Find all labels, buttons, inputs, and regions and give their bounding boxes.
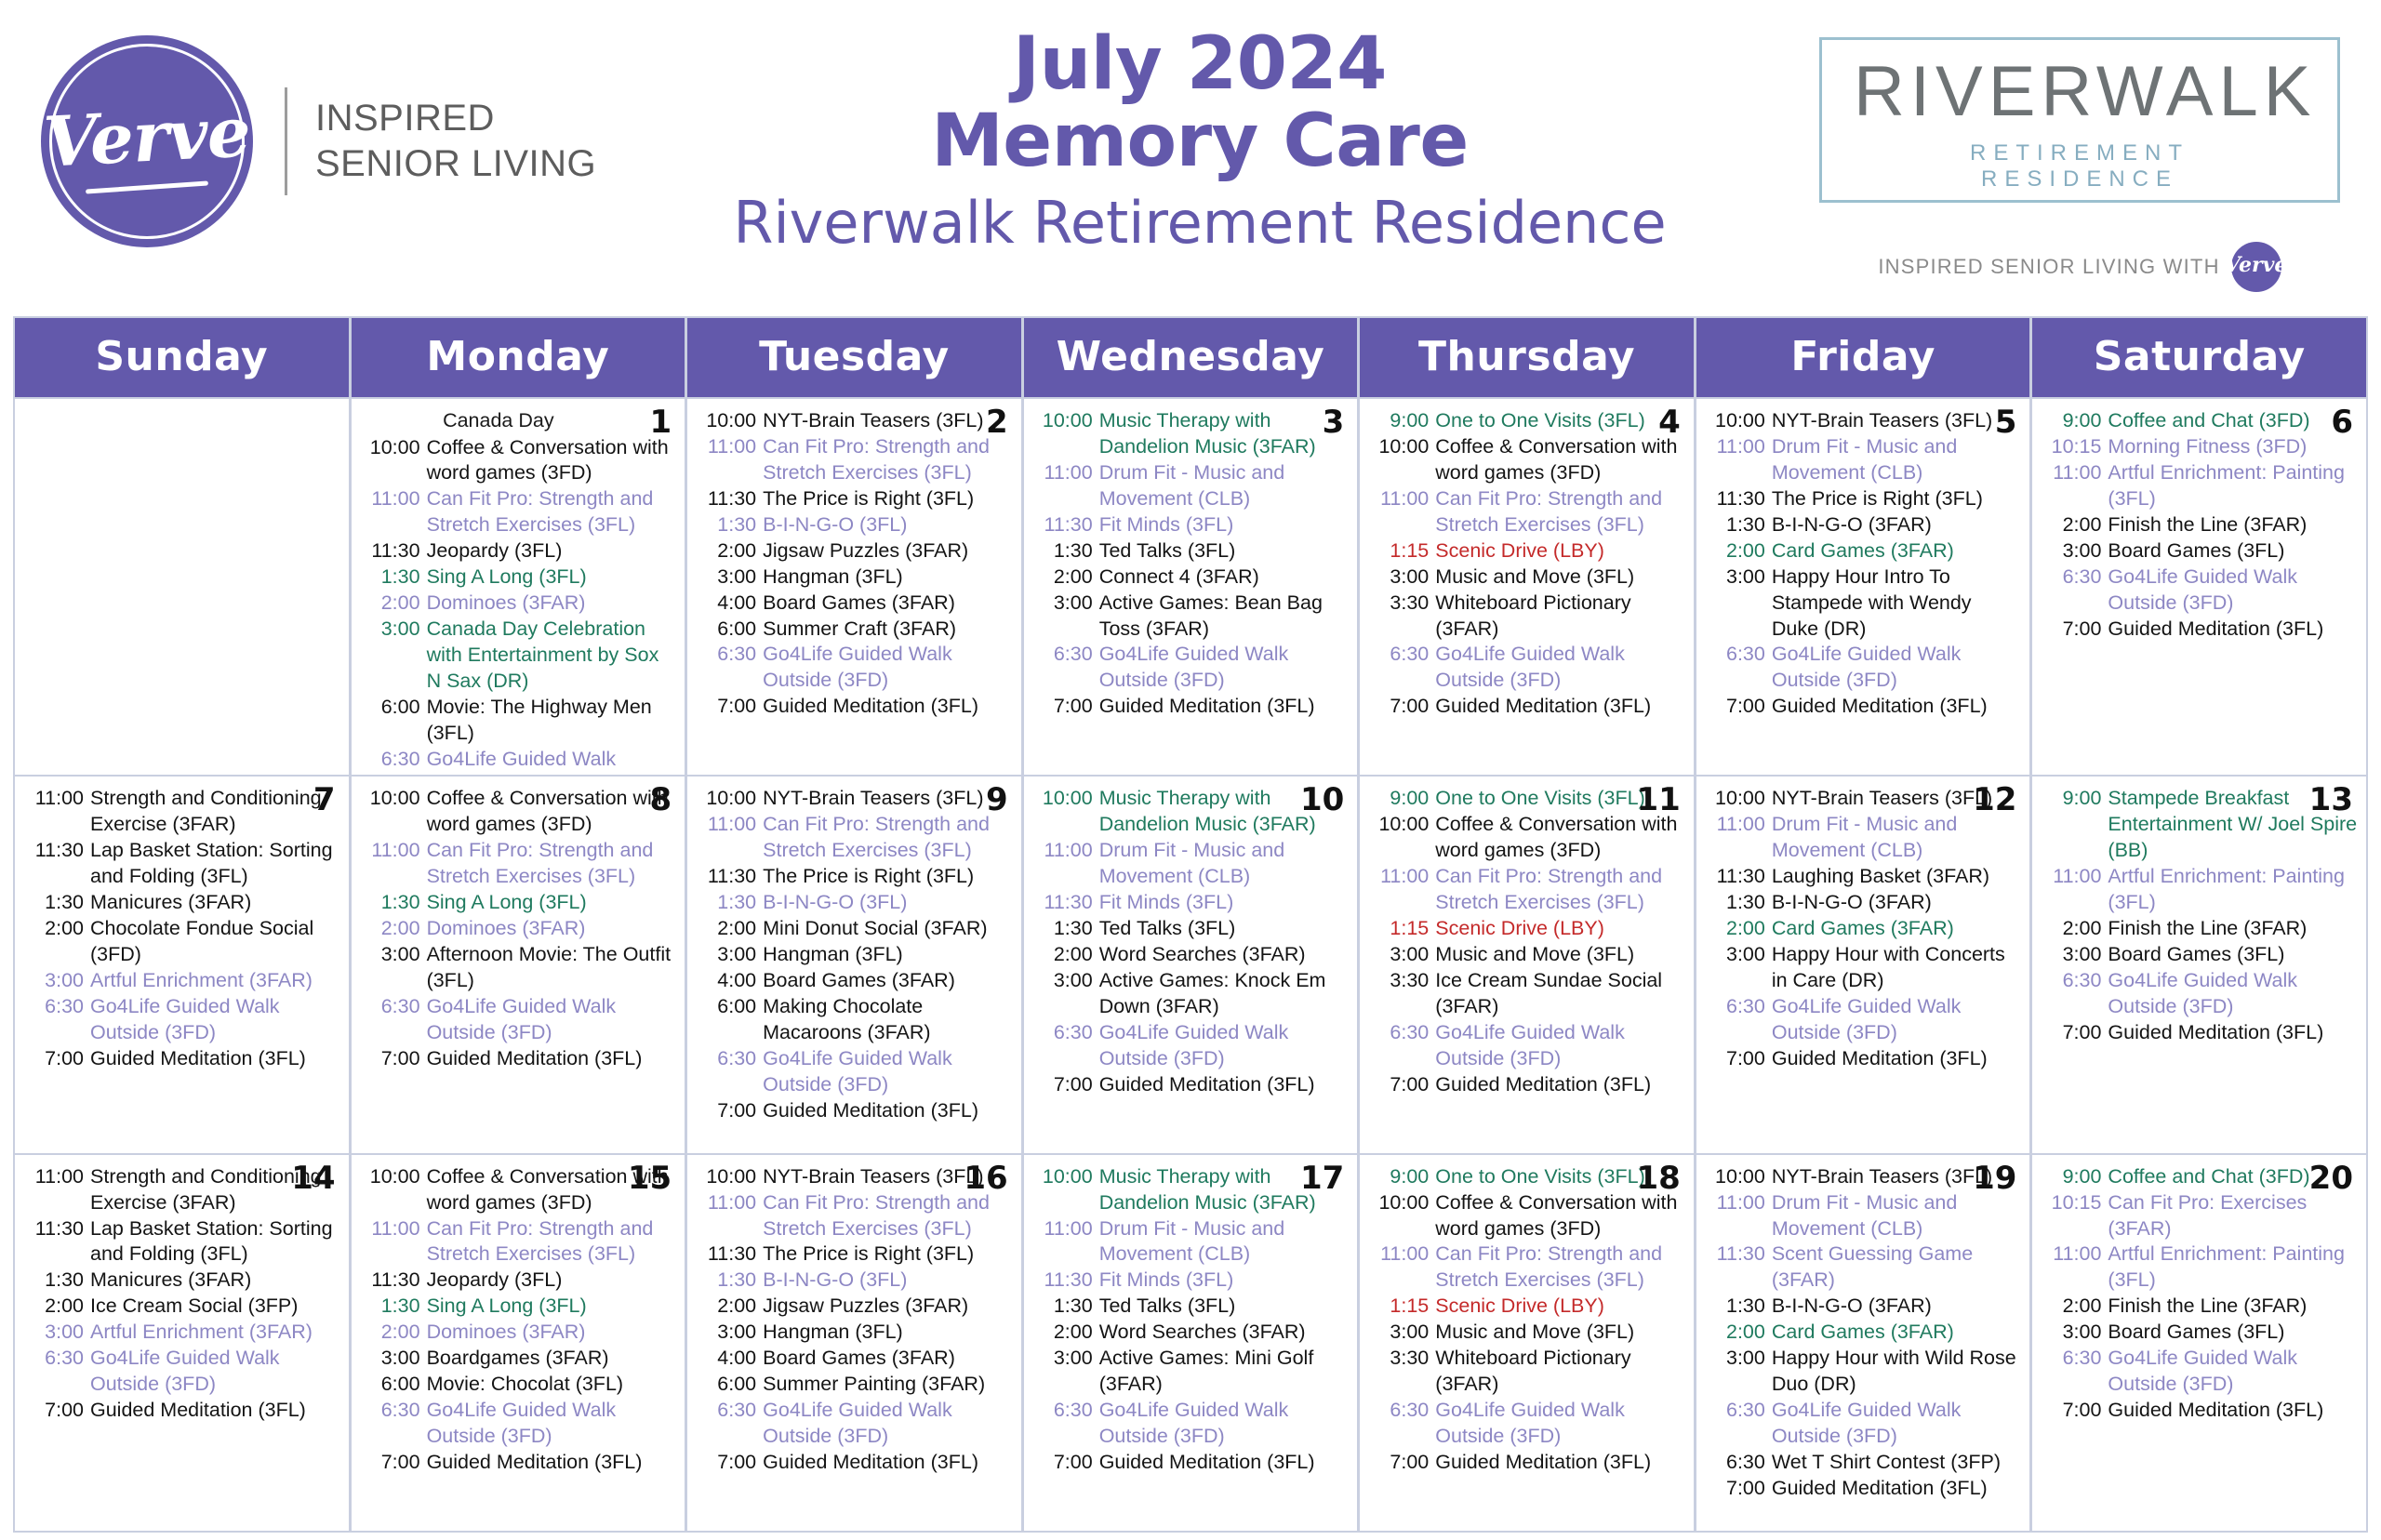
event-time: 6:30: [1704, 642, 1765, 694]
event-item[interactable]: 11:30The Price is Right (3FL): [1704, 486, 2023, 512]
event-item[interactable]: 11:00Can Fit Pro: Strength and Stretch E…: [359, 1216, 678, 1268]
event-item[interactable]: 3:00Happy Hour Intro To Stampede with We…: [1704, 564, 2023, 643]
event-time: 11:00: [695, 1190, 756, 1242]
event-item[interactable]: 4:00Board Games (3FAR): [695, 591, 1014, 617]
event-description: The Price is Right (3FL): [763, 1241, 1014, 1268]
event-item[interactable]: 11:00Strength and Conditioning Exercise …: [22, 786, 341, 838]
event-time: 1:30: [22, 890, 84, 916]
event-item[interactable]: 11:00Can Fit Pro: Strength and Stretch E…: [1367, 1241, 1686, 1294]
event-time: 11:30: [1704, 1241, 1765, 1294]
event-item[interactable]: 2:00Jigsaw Puzzles (3FAR): [695, 538, 1014, 564]
day-cell-17[interactable]: 1710:00Music Therapy with Dandelion Musi…: [1024, 1155, 1358, 1531]
event-item[interactable]: 7:00Guided Meditation (3FL): [1031, 1072, 1350, 1098]
event-time: 6:30: [359, 994, 420, 1046]
brand-divider: [285, 87, 287, 195]
event-item[interactable]: 10:00Music Therapy with Dandelion Music …: [1031, 408, 1350, 460]
event-item[interactable]: 10:00Coffee & Conversation with word gam…: [359, 435, 678, 487]
day-cell-9[interactable]: 910:00NYT-Brain Teasers (3FL)11:00Can Fi…: [687, 777, 1021, 1152]
day-cell-10[interactable]: 1010:00Music Therapy with Dandelion Musi…: [1024, 777, 1358, 1152]
event-item[interactable]: 3:00Board Games (3FL): [2040, 538, 2359, 564]
event-description: Dominoes (3FAR): [427, 916, 678, 942]
event-item[interactable]: 10:00Coffee & Conversation with word gam…: [1367, 812, 1686, 864]
event-item[interactable]: 10:15Can Fit Pro: Exercises (3FAR): [2040, 1190, 2359, 1242]
riverwalk-footer-text: INSPIRED SENIOR LIVING WITH: [1878, 255, 2219, 279]
event-time: 10:00: [1031, 408, 1093, 460]
event-item[interactable]: 6:30Go4Life Guided Walk Outside (3FD): [359, 1398, 678, 1450]
event-item[interactable]: 3:00Active Games: Knock Em Down (3FAR): [1031, 968, 1350, 1020]
event-item[interactable]: 11:00Can Fit Pro: Strength and Stretch E…: [359, 838, 678, 890]
event-item[interactable]: 2:00Card Games (3FAR): [1704, 538, 2023, 564]
event-item[interactable]: 7:00Guided Meditation (3FL): [22, 1398, 341, 1424]
event-item[interactable]: 6:30Go4Life Guided Walk Outside (3FD): [22, 994, 341, 1046]
event-item[interactable]: 6:30Go4Life Guided Walk Outside (3FD): [22, 1346, 341, 1398]
event-time: 11:00: [1367, 1241, 1429, 1294]
event-description: Strength and Conditioning Exercise (3FAR…: [90, 786, 341, 838]
event-item[interactable]: 2:00Dominoes (3FAR): [359, 1320, 678, 1346]
event-description: Drum Fit - Music and Movement (CLB): [1099, 838, 1350, 890]
event-item[interactable]: 11:00Can Fit Pro: Strength and Stretch E…: [695, 812, 1014, 864]
day-cell-3[interactable]: 310:00Music Therapy with Dandelion Music…: [1024, 399, 1358, 775]
event-item[interactable]: 1:15Scenic Drive (LBY): [1367, 1294, 1686, 1320]
event-item[interactable]: 3:00Board Games (3FL): [2040, 942, 2359, 968]
event-list: 9:00Coffee and Chat (3FD)10:15Can Fit Pr…: [2040, 1164, 2359, 1424]
event-time: 6:30: [1704, 1398, 1765, 1450]
event-description: Board Games (3FAR): [763, 968, 1014, 994]
event-item[interactable]: 11:00Drum Fit - Music and Movement (CLB): [1704, 812, 2023, 864]
event-time: 10:00: [1031, 786, 1093, 838]
event-time: 4:00: [695, 1346, 756, 1372]
event-time: 3:00: [1367, 942, 1429, 968]
event-time: 1:30: [695, 1268, 756, 1294]
event-description: Can Fit Pro: Strength and Stretch Exerci…: [763, 1190, 1014, 1242]
event-item[interactable]: 7:00Guided Meditation (3FL): [695, 1450, 1014, 1476]
event-item[interactable]: 11:00Can Fit Pro: Strength and Stretch E…: [1367, 864, 1686, 916]
event-item[interactable]: 7:00Guided Meditation (3FL): [1367, 1450, 1686, 1476]
event-item[interactable]: 1:15Scenic Drive (LBY): [1367, 916, 1686, 942]
event-item[interactable]: 6:30Go4Life Guided Walk Outside (3FD): [2040, 564, 2359, 617]
day-cell-19[interactable]: 1910:00NYT-Brain Teasers (3FL)11:00Drum …: [1696, 1155, 2030, 1531]
event-item[interactable]: 2:00Finish the Line (3FAR): [2040, 916, 2359, 942]
event-time: 3:00: [22, 968, 84, 994]
event-time: 7:00: [1367, 1072, 1429, 1098]
event-item[interactable]: 2:00Word Searches (3FAR): [1031, 1320, 1350, 1346]
event-time: 1:15: [1367, 1294, 1429, 1320]
weekday-header-saturday: Saturday: [2032, 318, 2366, 397]
event-item[interactable]: 11:00Can Fit Pro: Strength and Stretch E…: [1367, 486, 1686, 538]
event-item[interactable]: 6:30Go4Life Guided Walk Outside (3FD): [1367, 1020, 1686, 1072]
day-cell-16[interactable]: 1610:00NYT-Brain Teasers (3FL)11:00Can F…: [687, 1155, 1021, 1531]
event-item[interactable]: 11:30The Price is Right (3FL): [695, 1241, 1014, 1268]
event-item[interactable]: 11:30Lap Basket Station: Sorting and Fol…: [22, 838, 341, 890]
event-item[interactable]: 2:00Connect 4 (3FAR): [1031, 564, 1350, 591]
event-time: 3:00: [1704, 942, 1765, 994]
day-cell-11[interactable]: 119:00One to One Visits (3FL)10:00Coffee…: [1360, 777, 1694, 1152]
event-description: Jigsaw Puzzles (3FAR): [763, 1294, 1014, 1320]
day-cell-13[interactable]: 139:00Stampede Breakfast Entertainment W…: [2032, 777, 2366, 1152]
day-cell-7[interactable]: 711:00Strength and Conditioning Exercise…: [15, 777, 349, 1152]
event-item[interactable]: 6:30Go4Life Guided Walk Outside (3FD): [1704, 994, 2023, 1046]
event-item[interactable]: 2:00Finish the Line (3FAR): [2040, 512, 2359, 538]
event-time: 10:00: [1367, 1190, 1429, 1242]
event-description: Movie: Chocolat (3FL): [427, 1372, 678, 1398]
event-time: 2:00: [359, 591, 420, 617]
event-item[interactable]: 11:30Jeopardy (3FL): [359, 1268, 678, 1294]
event-time: 9:00: [1367, 408, 1429, 434]
event-time: 10:00: [1704, 1164, 1765, 1190]
event-item[interactable]: 6:30Go4Life Guided Walk Outside (3FD): [359, 994, 678, 1046]
event-list: 9:00One to One Visits (3FL)10:00Coffee &…: [1367, 1164, 1686, 1476]
event-time: 11:00: [1704, 1190, 1765, 1242]
event-time: 11:30: [1031, 1268, 1093, 1294]
event-item[interactable]: 7:00Guided Meditation (3FL): [22, 1046, 341, 1072]
event-list: 10:00Coffee & Conversation with word gam…: [359, 1164, 678, 1476]
event-list: 9:00Coffee and Chat (3FD)10:15Morning Fi…: [2040, 408, 2359, 642]
event-description: Coffee & Conversation with word games (3…: [427, 435, 678, 487]
event-item[interactable]: 2:00Word Searches (3FAR): [1031, 942, 1350, 968]
event-item[interactable]: 3:00Afternoon Movie: The Outfit (3FL): [359, 942, 678, 994]
event-description: Go4Life Guided Walk Outside (3FD): [2108, 1346, 2359, 1398]
event-time: 7:00: [1704, 1476, 1765, 1502]
event-item[interactable]: 2:00Dominoes (3FAR): [359, 591, 678, 617]
event-item[interactable]: 11:00Can Fit Pro: Strength and Stretch E…: [695, 1190, 1014, 1242]
event-item[interactable]: 11:30Lap Basket Station: Sorting and Fol…: [22, 1216, 341, 1268]
day-cell-6[interactable]: 69:00Coffee and Chat (3FD)10:15Morning F…: [2032, 399, 2366, 775]
event-item[interactable]: 6:30Go4Life Guided Walk Outside (3FD): [2040, 1346, 2359, 1398]
event-item[interactable]: 11:00Artful Enrichment: Painting (3FL): [2040, 460, 2359, 512]
verve-mini-wordmark: Verve: [2225, 253, 2287, 277]
event-item[interactable]: 7:00Guided Meditation (3FL): [359, 1046, 678, 1072]
event-item[interactable]: 7:00Guided Meditation (3FL): [695, 694, 1014, 720]
event-item[interactable]: 6:00Movie: The Highway Men (3FL): [359, 695, 678, 747]
event-description: Artful Enrichment: Painting (3FL): [2108, 1241, 2359, 1294]
event-item[interactable]: 3:00Artful Enrichment (3FAR): [22, 968, 341, 994]
event-item[interactable]: 3:00Boardgames (3FAR): [359, 1346, 678, 1372]
event-item[interactable]: 3:00Hangman (3FL): [695, 1320, 1014, 1346]
event-item[interactable]: 11:00Can Fit Pro: Strength and Stretch E…: [695, 434, 1014, 486]
event-item[interactable]: 11:00Drum Fit - Music and Movement (CLB): [1031, 460, 1350, 512]
event-item[interactable]: 1:30Ted Talks (3FL): [1031, 538, 1350, 564]
event-item[interactable]: 11:00Drum Fit - Music and Movement (CLB): [1704, 1190, 2023, 1242]
event-item[interactable]: 7:00Guided Meditation (3FL): [695, 1098, 1014, 1124]
event-time: 6:30: [1367, 642, 1429, 694]
event-item[interactable]: 10:00NYT-Brain Teasers (3FL): [695, 786, 1014, 812]
event-item[interactable]: 3:00Happy Hour with Wild Rose Duo (DR): [1704, 1346, 2023, 1398]
day-cell-12[interactable]: 1210:00NYT-Brain Teasers (3FL)11:00Drum …: [1696, 777, 2030, 1152]
event-description: Guided Meditation (3FL): [2108, 1020, 2359, 1046]
event-item[interactable]: 2:00Dominoes (3FAR): [359, 916, 678, 942]
event-description: Ice Cream Sundae Social (3FAR): [1435, 968, 1686, 1020]
day-number: 9: [986, 784, 1008, 816]
day-cell-1[interactable]: 1Canada Day10:00Coffee & Conversation wi…: [352, 399, 685, 775]
event-description: Finish the Line (3FAR): [2108, 916, 2359, 942]
event-item[interactable]: 1:30B-I-N-G-O (3FL): [695, 890, 1014, 916]
event-time: 3:00: [359, 942, 420, 994]
event-item[interactable]: 1:30B-I-N-G-O (3FL): [695, 512, 1014, 538]
event-item[interactable]: 7:00Guided Meditation (3FL): [359, 1450, 678, 1476]
event-description: Lap Basket Station: Sorting and Folding …: [90, 1216, 341, 1268]
event-time: 3:00: [1367, 564, 1429, 591]
event-description: Finish the Line (3FAR): [2108, 1294, 2359, 1320]
event-item[interactable]: 6:30Go4Life Guided Walk Outside (3FD): [1367, 642, 1686, 694]
event-description: Artful Enrichment (3FAR): [90, 1320, 341, 1346]
event-description: Drum Fit - Music and Movement (CLB): [1099, 460, 1350, 512]
event-item[interactable]: 6:30Go4Life Guided Walk Outside (3FD): [1704, 642, 2023, 694]
event-item[interactable]: 2:00Chocolate Fondue Social (3FD): [22, 916, 341, 968]
day-cell-8[interactable]: 810:00Coffee & Conversation with word ga…: [352, 777, 685, 1152]
event-item[interactable]: 3:00Hangman (3FL): [695, 564, 1014, 591]
event-time: 1:30: [1031, 916, 1093, 942]
event-item[interactable]: 10:00NYT-Brain Teasers (3FL): [695, 408, 1014, 434]
event-item[interactable]: 7:00Guided Meditation (3FL): [1704, 694, 2023, 720]
event-item[interactable]: 2:00Card Games (3FAR): [1704, 1320, 2023, 1346]
event-item[interactable]: 6:00Summer Painting (3FAR): [695, 1372, 1014, 1398]
event-description: Go4Life Guided Walk Outside (3FD): [1435, 1398, 1686, 1450]
event-item[interactable]: 4:00Board Games (3FAR): [695, 1346, 1014, 1372]
event-item[interactable]: 7:00Guided Meditation (3FL): [2040, 617, 2359, 643]
event-item[interactable]: 3:00Active Games: Bean Bag Toss (3FAR): [1031, 591, 1350, 643]
event-description: Ice Cream Social (3FP): [90, 1294, 341, 1320]
event-time: 2:00: [359, 1320, 420, 1346]
event-item[interactable]: 1:30Sing A Long (3FL): [359, 1294, 678, 1320]
event-item[interactable]: 11:30Fit Minds (3FL): [1031, 1268, 1350, 1294]
event-item[interactable]: 3:00Active Games: Mini Golf (3FAR): [1031, 1346, 1350, 1398]
event-item[interactable]: 6:30Go4Life Guided Walk Outside (3FD): [1031, 1398, 1350, 1450]
day-cell-empty[interactable]: [15, 399, 349, 775]
event-description: Lap Basket Station: Sorting and Folding …: [90, 838, 341, 890]
event-item[interactable]: 10:00Coffee & Conversation with word gam…: [1367, 1190, 1686, 1242]
event-item[interactable]: 11:30Scent Guessing Game (3FAR): [1704, 1241, 2023, 1294]
day-cell-4[interactable]: 49:00One to One Visits (3FL)10:00Coffee …: [1360, 399, 1694, 775]
event-time: 10:00: [695, 786, 756, 812]
event-description: Boardgames (3FAR): [427, 1346, 678, 1372]
day-number: 16: [964, 1162, 1007, 1194]
event-description: Go4Life Guided Walk Outside (3FD): [1099, 1398, 1350, 1450]
event-item[interactable]: 7:00Guided Meditation (3FL): [1367, 694, 1686, 720]
event-item[interactable]: 6:30Wet T Shirt Contest (3FP): [1704, 1450, 2023, 1476]
event-time: 3:00: [2040, 942, 2101, 968]
day-number: 8: [649, 784, 672, 816]
event-item[interactable]: 1:30Ted Talks (3FL): [1031, 1294, 1350, 1320]
event-item[interactable]: 1:15Scenic Drive (LBY): [1367, 538, 1686, 564]
event-list: 10:00NYT-Brain Teasers (3FL)11:00Can Fit…: [695, 1164, 1014, 1476]
event-description: Guided Meditation (3FL): [1435, 1450, 1686, 1476]
page-header: Verve INSPIRED SENIOR LIVING July 2024 M…: [13, 9, 2368, 316]
event-item[interactable]: 9:00Coffee and Chat (3FD): [2040, 408, 2359, 434]
week-row-2: 711:00Strength and Conditioning Exercise…: [15, 777, 2366, 1152]
event-time: 3:00: [695, 564, 756, 591]
day-cell-20[interactable]: 209:00Coffee and Chat (3FD)10:15Can Fit …: [2032, 1155, 2366, 1531]
event-description: Can Fit Pro: Strength and Stretch Exerci…: [763, 812, 1014, 864]
event-item[interactable]: 10:00NYT-Brain Teasers (3FL): [1704, 408, 2023, 434]
event-item[interactable]: 1:30B-I-N-G-O (3FL): [695, 1268, 1014, 1294]
event-item[interactable]: 1:30Sing A Long (3FL): [359, 564, 678, 591]
event-time: 1:30: [1704, 890, 1765, 916]
event-item[interactable]: 7:00Guided Meditation (3FL): [1367, 1072, 1686, 1098]
event-item[interactable]: 6:30Go4Life Guided Walk Outside (3FD): [2040, 968, 2359, 1020]
event-time: 11:00: [2040, 460, 2101, 512]
event-item[interactable]: 6:00Movie: Chocolat (3FL): [359, 1372, 678, 1398]
event-description: Go4Life Guided Walk Outside (3FD): [427, 747, 678, 776]
event-item[interactable]: 6:00Summer Craft (3FAR): [695, 617, 1014, 643]
event-time: 3:00: [695, 942, 756, 968]
event-time: 11:30: [22, 838, 84, 890]
event-item[interactable]: 3:30Whiteboard Pictionary (3FAR): [1367, 591, 1686, 643]
event-item[interactable]: 2:00Mini Donut Social (3FAR): [695, 916, 1014, 942]
event-item[interactable]: 3:00Artful Enrichment (3FAR): [22, 1320, 341, 1346]
event-description: Word Searches (3FAR): [1099, 942, 1350, 968]
day-number: 10: [1300, 784, 1344, 816]
event-item[interactable]: 7:00Guided Meditation (3FL): [1704, 1476, 2023, 1502]
day-cell-5[interactable]: 510:00NYT-Brain Teasers (3FL)11:00Drum F…: [1696, 399, 2030, 775]
event-description: Guided Meditation (3FL): [2108, 1398, 2359, 1424]
event-description: Guided Meditation (3FL): [427, 1046, 678, 1072]
event-item[interactable]: 6:30Go4Life Guided Walk Outside (3FD): [359, 747, 678, 776]
day-number: 5: [1995, 406, 2017, 438]
event-time: 3:00: [2040, 1320, 2101, 1346]
event-item[interactable]: 1:30B-I-N-G-O (3FAR): [1704, 890, 2023, 916]
event-item[interactable]: 1:30B-I-N-G-O (3FAR): [1704, 1294, 2023, 1320]
event-description: Guided Meditation (3FL): [1435, 694, 1686, 720]
event-description: Wet T Shirt Contest (3FP): [1772, 1450, 2023, 1476]
event-item[interactable]: 10:00Coffee & Conversation with word gam…: [359, 786, 678, 838]
event-item[interactable]: 3:00Music and Move (3FL): [1367, 942, 1686, 968]
page-subtitle-residence: Riverwalk Retirement Residence: [608, 189, 1791, 258]
weekday-header-wednesday: Wednesday: [1024, 318, 1358, 397]
event-item[interactable]: 11:00Drum Fit - Music and Movement (CLB): [1031, 1216, 1350, 1268]
event-item[interactable]: 11:30The Price is Right (3FL): [695, 864, 1014, 890]
event-item[interactable]: 2:00Jigsaw Puzzles (3FAR): [695, 1294, 1014, 1320]
event-item[interactable]: 11:00Can Fit Pro: Strength and Stretch E…: [359, 486, 678, 538]
event-time: 3:00: [359, 1346, 420, 1372]
event-item[interactable]: 6:30Go4Life Guided Walk Outside (3FD): [1031, 642, 1350, 694]
event-time: 11:00: [1367, 864, 1429, 916]
event-description: Go4Life Guided Walk Outside (3FD): [1435, 1020, 1686, 1072]
event-item[interactable]: 7:00Guided Meditation (3FL): [1704, 1046, 2023, 1072]
event-description: Guided Meditation (3FL): [1772, 1046, 2023, 1072]
event-item[interactable]: 11:00Drum Fit - Music and Movement (CLB): [1704, 434, 2023, 486]
event-item[interactable]: 6:00Making Chocolate Macaroons (3FAR): [695, 994, 1014, 1046]
event-item[interactable]: 7:00Guided Meditation (3FL): [1031, 694, 1350, 720]
event-item[interactable]: 3:00Canada Day Celebration with Entertai…: [359, 617, 678, 695]
event-description: Can Fit Pro: Strength and Stretch Exerci…: [427, 838, 678, 890]
event-item[interactable]: 3:00Music and Move (3FL): [1367, 1320, 1686, 1346]
event-time: 11:00: [359, 1216, 420, 1268]
weekday-header-tuesday: Tuesday: [687, 318, 1021, 397]
event-time: 9:00: [1367, 786, 1429, 812]
event-time: 6:30: [22, 994, 84, 1046]
event-time: 4:00: [695, 591, 756, 617]
event-time: 11:30: [695, 864, 756, 890]
event-item[interactable]: 6:30Go4Life Guided Walk Outside (3FD): [695, 642, 1014, 694]
event-time: 10:00: [1704, 408, 1765, 434]
event-time: 10:00: [359, 786, 420, 838]
day-cell-14[interactable]: 1411:00Strength and Conditioning Exercis…: [15, 1155, 349, 1531]
day-cell-18[interactable]: 189:00One to One Visits (3FL)10:00Coffee…: [1360, 1155, 1694, 1531]
event-item[interactable]: 1:30Sing A Long (3FL): [359, 890, 678, 916]
event-time: 2:00: [695, 916, 756, 942]
event-description: Jigsaw Puzzles (3FAR): [763, 538, 1014, 564]
event-time: 6:30: [2040, 968, 2101, 1020]
event-time: 2:00: [2040, 916, 2101, 942]
event-time: 10:15: [2040, 434, 2101, 460]
event-description: Guided Meditation (3FL): [763, 694, 1014, 720]
event-item[interactable]: 11:00Artful Enrichment: Painting (3FL): [2040, 1241, 2359, 1294]
event-item[interactable]: 3:30Ice Cream Sundae Social (3FAR): [1367, 968, 1686, 1020]
event-item[interactable]: 2:00Finish the Line (3FAR): [2040, 1294, 2359, 1320]
weekday-header-row: SundayMondayTuesdayWednesdayThursdayFrid…: [15, 318, 2366, 397]
event-item[interactable]: 6:30Go4Life Guided Walk Outside (3FD): [695, 1046, 1014, 1098]
event-description: Music Therapy with Dandelion Music (3FAR…: [1099, 408, 1350, 460]
event-item[interactable]: 2:00Ice Cream Social (3FP): [22, 1294, 341, 1320]
event-time: 3:00: [359, 617, 420, 695]
event-item[interactable]: 7:00Guided Meditation (3FL): [1031, 1450, 1350, 1476]
event-time: 1:30: [1031, 538, 1093, 564]
event-item[interactable]: 3:30Whiteboard Pictionary (3FAR): [1367, 1346, 1686, 1398]
event-item[interactable]: 6:30Go4Life Guided Walk Outside (3FD): [1031, 1020, 1350, 1072]
event-time: 1:15: [1367, 538, 1429, 564]
event-item[interactable]: 7:00Guided Meditation (3FL): [2040, 1020, 2359, 1046]
event-time: 2:00: [2040, 1294, 2101, 1320]
event-item[interactable]: 10:15Morning Fitness (3FD): [2040, 434, 2359, 460]
event-item[interactable]: 11:30Laughing Basket (3FAR): [1704, 864, 2023, 890]
event-item[interactable]: 6:30Go4Life Guided Walk Outside (3FD): [695, 1398, 1014, 1450]
event-item[interactable]: 6:30Go4Life Guided Walk Outside (3FD): [1704, 1398, 2023, 1450]
event-item[interactable]: 3:00Happy Hour with Concerts in Care (DR…: [1704, 942, 2023, 994]
event-time: 11:30: [695, 486, 756, 512]
event-time: 6:30: [1031, 1020, 1093, 1072]
day-cell-2[interactable]: 210:00NYT-Brain Teasers (3FL)11:00Can Fi…: [687, 399, 1021, 775]
event-item[interactable]: 11:30Fit Minds (3FL): [1031, 512, 1350, 538]
event-description: NYT-Brain Teasers (3FL): [1772, 408, 2023, 434]
event-time: 3:30: [1367, 591, 1429, 643]
event-description: Board Games (3FAR): [763, 591, 1014, 617]
event-time: 6:30: [1704, 1450, 1765, 1476]
event-item[interactable]: 3:00Board Games (3FL): [2040, 1320, 2359, 1346]
event-item[interactable]: 11:30The Price is Right (3FL): [695, 486, 1014, 512]
event-time: 11:00: [1031, 838, 1093, 890]
event-description: Go4Life Guided Walk Outside (3FD): [1772, 994, 2023, 1046]
event-description: Ted Talks (3FL): [1099, 1294, 1350, 1320]
day-number: 12: [1973, 784, 2016, 816]
event-item[interactable]: 1:30Manicures (3FAR): [22, 1268, 341, 1294]
event-item[interactable]: 3:00Music and Move (3FL): [1367, 564, 1686, 591]
event-description: Word Searches (3FAR): [1099, 1320, 1350, 1346]
event-item[interactable]: 11:30Jeopardy (3FL): [359, 538, 678, 564]
event-time: 11:30: [359, 538, 420, 564]
day-cell-15[interactable]: 1510:00Coffee & Conversation with word g…: [352, 1155, 685, 1531]
event-item[interactable]: 1:30Manicures (3FAR): [22, 890, 341, 916]
event-item[interactable]: 11:00Artful Enrichment: Painting (3FL): [2040, 864, 2359, 916]
event-item[interactable]: 10:00Coffee & Conversation with word gam…: [1367, 434, 1686, 486]
event-item[interactable]: 2:00Card Games (3FAR): [1704, 916, 2023, 942]
event-item[interactable]: 11:00Drum Fit - Music and Movement (CLB): [1031, 838, 1350, 890]
event-list: 10:00Music Therapy with Dandelion Music …: [1031, 1164, 1350, 1476]
event-description: Guided Meditation (3FL): [427, 1450, 678, 1476]
event-item[interactable]: 11:30Fit Minds (3FL): [1031, 890, 1350, 916]
event-description: Mini Donut Social (3FAR): [763, 916, 1014, 942]
event-item[interactable]: 4:00Board Games (3FAR): [695, 968, 1014, 994]
event-item[interactable]: 9:00One to One Visits (3FL): [1367, 408, 1686, 434]
event-item[interactable]: 3:00Hangman (3FL): [695, 942, 1014, 968]
event-description: NYT-Brain Teasers (3FL): [763, 786, 1014, 812]
event-item[interactable]: 1:30B-I-N-G-O (3FAR): [1704, 512, 2023, 538]
day-number: 4: [1658, 406, 1681, 438]
event-item[interactable]: 6:30Go4Life Guided Walk Outside (3FD): [1367, 1398, 1686, 1450]
event-description: Card Games (3FAR): [1772, 538, 2023, 564]
event-item[interactable]: 7:00Guided Meditation (3FL): [2040, 1398, 2359, 1424]
event-item[interactable]: 1:30Ted Talks (3FL): [1031, 916, 1350, 942]
event-time: 6:30: [1704, 994, 1765, 1046]
